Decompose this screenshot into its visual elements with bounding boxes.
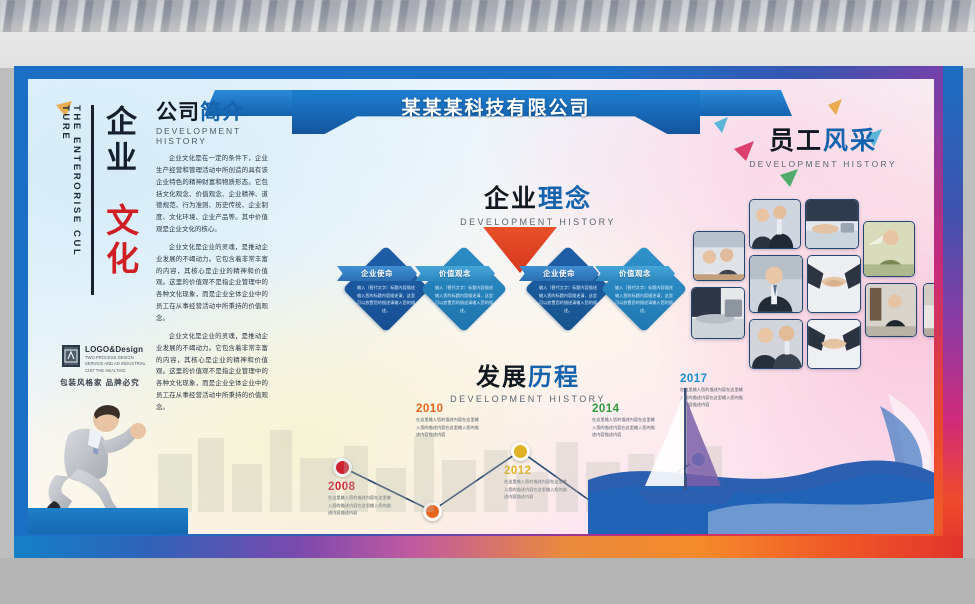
- philosophy-card[interactable]: 价值观念 输入（替代文字）标题内容描述输入您的标题内容描述请、这里可以放置您的描…: [601, 246, 687, 332]
- left-title-column: 企业 文化 THE ENTERORISE CUL TURE LOGO&D: [42, 101, 150, 401]
- poster-frame-bottom-strip: [14, 536, 963, 558]
- philosophy-card-text: 输入（替代文字）标题内容描述输入您的标题内容描述请、这里可以放置您的描述请输入您…: [539, 284, 597, 314]
- logo-text-block: LOGO&Design TWO PROCESS DESIGN SERVICE A…: [85, 345, 150, 374]
- office-desk-photo[interactable]: [691, 287, 745, 339]
- staff-heading-blue: 风采: [823, 127, 877, 155]
- celebration-photo[interactable]: [863, 221, 915, 277]
- philosophy-card[interactable]: 企业使命 输入（替代文字）标题内容描述输入您的标题内容描述请、这里可以放置您的描…: [343, 246, 429, 332]
- banner-wing-right: [700, 90, 792, 116]
- sailboat-icon: [633, 386, 743, 516]
- couple-portrait-photo[interactable]: [749, 319, 803, 369]
- philosophy-card-ribbon: 企业使命: [337, 266, 417, 281]
- philosophy-heading: 企业理念: [443, 179, 633, 215]
- philosophy-card[interactable]: 价值观念 输入（替代文字）标题内容描述输入您的标题内容描述请、这里可以放置您的描…: [421, 246, 507, 332]
- screenshot-root: 某某某科技有限公司 企业 文化 THE ENTERORISE CUL TURE: [0, 0, 975, 604]
- intro-paragraph: 企业文化是在一定的条件下，企业生产经营和管理活动中所创造的具有该企业特色的精神财…: [156, 153, 268, 236]
- logo-name: LOGO&Design: [85, 345, 150, 354]
- philosophy-subtitle: DEVELOPMENT HISTORY: [443, 217, 633, 227]
- intro-subtitle: DEVELOPMENT HISTORY: [156, 126, 268, 146]
- philosophy-card-text: 输入（替代文字）标题内容描述输入您的标题内容描述请、这里可以放置您的描述请输入您…: [435, 284, 493, 314]
- poster-canvas: 某某某科技有限公司 企业 文化 THE ENTERORISE CUL TURE: [28, 79, 934, 534]
- staff-heading: 员工风采: [728, 121, 918, 157]
- intro-body: 企业文化是在一定的条件下，企业生产经营和管理活动中所创造的具有该企业特色的精神财…: [156, 153, 268, 414]
- vertical-divider-rule: [91, 105, 94, 295]
- logo-subtext: TWO PROCESS DESIGN SERVICE AND AD INDUST…: [85, 355, 150, 374]
- desk-discussion-photo[interactable]: [805, 199, 859, 249]
- vertical-title-top: 企业: [103, 105, 134, 197]
- intro-heading-black: 公司: [156, 99, 200, 124]
- group-applause-photo[interactable]: [749, 199, 801, 249]
- intro-heading-blue: 简介: [200, 101, 244, 124]
- vertical-title-characters: 企业 文化: [103, 105, 137, 299]
- philosophy-card-ribbon: 价值观念: [595, 266, 675, 281]
- philosophy-card-ribbon: 价值观念: [415, 266, 495, 281]
- background-left: [0, 68, 14, 558]
- philosophy-heading-blue: 理念: [538, 185, 592, 213]
- philosophy-card-label: 价值观念: [439, 268, 471, 279]
- development-heading-black: 发展: [476, 362, 528, 391]
- vertical-title-bottom: 文化: [103, 203, 137, 299]
- logo-slogan: 包装风格家 品牌必究: [60, 377, 140, 388]
- logo-block: LOGO&Design TWO PROCESS DESIGN SERVICE A…: [62, 345, 150, 374]
- intro-paragraph: 企业文化是企业的灵魂，是推动企业发展的不竭动力。它包含着非常丰富的内容，其核心是…: [156, 242, 268, 325]
- poster-frame-right-strip: [943, 66, 963, 558]
- philosophy-card[interactable]: 企业使命 输入（替代文字）标题内容描述输入您的标题内容描述请、这里可以放置您的描…: [525, 246, 611, 332]
- handshake-closeup-photo[interactable]: [807, 319, 861, 369]
- staff-heading-group: 员工风采 DEVELOPMENT HISTORY: [728, 121, 918, 169]
- staff-subtitle: DEVELOPMENT HISTORY: [728, 159, 918, 169]
- development-heading-blue: 历程: [528, 364, 580, 391]
- culture-wall-poster: 某某某科技有限公司 企业 文化 THE ENTERORISE CUL TURE: [14, 66, 963, 558]
- presenter-photo[interactable]: [865, 283, 917, 337]
- philosophy-heading-black: 企业: [484, 184, 538, 213]
- blue-footer-block: [28, 508, 188, 534]
- background-right: [963, 68, 975, 558]
- company-name-title: 某某某科技有限公司: [401, 93, 590, 120]
- vertical-title-group: 企业 文化 THE ENTERORISE CUL TURE: [60, 105, 137, 299]
- vertical-title-english: THE ENTERORISE CUL TURE: [60, 105, 82, 293]
- philosophy-card-text: 输入（替代文字）标题内容描述输入您的标题内容描述请、这里可以放置您的描述请输入您…: [357, 284, 415, 314]
- philosophy-card-label: 价值观念: [619, 268, 651, 279]
- philosophy-heading-group: 企业理念 DEVELOPMENT HISTORY: [443, 179, 633, 227]
- executive-portrait-photo[interactable]: [749, 255, 803, 313]
- philosophy-diamond-group: 企业使命 输入（替代文字）标题内容描述输入您的标题内容描述请、这里可以放置您的描…: [343, 242, 673, 342]
- philosophy-card-ribbon: 企业使命: [519, 266, 599, 281]
- team-meeting-photo[interactable]: [693, 231, 745, 281]
- company-intro-section: 公司简介 DEVELOPMENT HISTORY 企业文化是在一定的条件下，企业…: [156, 101, 268, 420]
- background-bottom: [0, 558, 975, 604]
- philosophy-card-label: 企业使命: [361, 268, 393, 279]
- background-texture-top: [0, 0, 975, 32]
- philosophy-card-label: 企业使命: [543, 268, 575, 279]
- background-plain-top: [0, 32, 975, 68]
- philosophy-card-text: 输入（替代文字）标题内容描述输入您的标题内容描述请、这里可以放置您的描述请输入您…: [615, 284, 673, 314]
- handshake-photo[interactable]: [807, 255, 861, 313]
- logo-glyph-icon: [64, 349, 78, 363]
- logo-mark-icon: [62, 345, 80, 367]
- speaker-stage-photo[interactable]: [923, 283, 934, 337]
- header-banner-inner: 某某某科技有限公司: [292, 90, 700, 122]
- intro-heading: 公司简介: [156, 101, 268, 123]
- staff-heading-black: 员工: [769, 126, 823, 155]
